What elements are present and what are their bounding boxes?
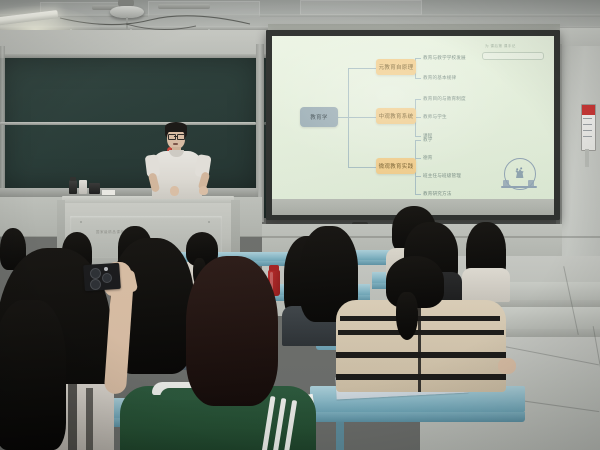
student-striped-beige-ponytail <box>396 292 418 340</box>
presenter-hand-right <box>199 186 208 195</box>
stripe-center-seam <box>418 300 421 392</box>
phone-camera-lens-1 <box>90 268 101 279</box>
desk-leg-right <box>336 422 344 450</box>
presenter-glasses-right <box>177 134 185 140</box>
phone-flash <box>104 267 108 271</box>
student-edge-right-torso <box>462 268 510 302</box>
presenter-hand-left <box>170 186 179 196</box>
stripe-2 <box>338 330 504 335</box>
presenter-mouth <box>173 143 178 145</box>
student-front-left-hair-front <box>0 300 66 450</box>
thermos-lid <box>70 177 76 181</box>
sign-line-2 <box>583 124 592 125</box>
sign-bracket <box>585 149 589 167</box>
bottle-cap <box>269 265 279 271</box>
phone-camera-lens-2 <box>90 279 101 290</box>
presenter-hair-top <box>165 122 187 132</box>
projection-screen: 教育学 元教育自原理 中观教育系统 微观教育实践 教育与教学学校发展 教育的基本… <box>272 36 554 199</box>
stripe-3 <box>336 352 506 358</box>
student-striped-beige-hand <box>498 358 516 374</box>
lecture-hall-photo: 教育学 元教育自原理 中观教育系统 微观教育实践 教育与教学学校发展 教育的基本… <box>0 0 600 450</box>
sign-line-3 <box>583 130 592 131</box>
phone-camera-lens-3 <box>102 273 112 283</box>
presenter-glasses-bridge <box>174 136 177 137</box>
sign-line-1 <box>583 118 592 119</box>
sign-line-4 <box>583 136 592 137</box>
ceiling-panel-right <box>300 0 422 15</box>
wall-notice-sign <box>581 104 596 151</box>
podium-panel-screw-right <box>208 221 210 223</box>
projector-hotspot <box>272 36 554 199</box>
student-front-left-stripe <box>68 384 77 450</box>
paper-on-podium <box>102 190 115 195</box>
desk-foreground-right-edge <box>310 412 525 422</box>
cup-white <box>79 180 87 194</box>
podium-top <box>62 196 234 203</box>
chalkboard-track-left <box>0 46 5 196</box>
stripe-4 <box>336 374 506 380</box>
podium-panel-screw <box>80 221 82 223</box>
student-front-left-stripe-2 <box>86 388 93 450</box>
black-thermos <box>69 180 77 194</box>
fan-blade-right <box>158 4 210 9</box>
container-black <box>89 183 100 194</box>
chalkboard-rail-mid <box>0 122 256 125</box>
student-green-jacket-hair <box>186 256 278 406</box>
